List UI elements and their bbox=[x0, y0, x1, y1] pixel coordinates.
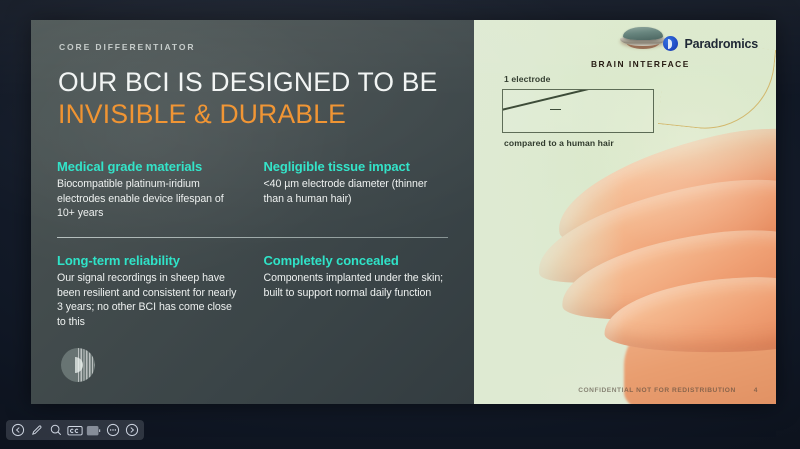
page-number: 4 bbox=[754, 387, 758, 394]
confidential-notice: CONFIDENTIAL NOT FOR REDISTRIBUTION bbox=[578, 387, 736, 394]
diagram-box bbox=[502, 89, 654, 133]
presentation-slide: CORE DIFFERENTIATOR OUR BCI IS DESIGNED … bbox=[31, 20, 776, 404]
headline-line-2: INVISIBLE & DURABLE bbox=[58, 98, 448, 130]
feature-item: Completely concealed Components implante… bbox=[264, 238, 449, 329]
brand-name: Paradromics bbox=[684, 37, 758, 51]
electrode-comparison-diagram: 1 electrode compared to a human hair bbox=[502, 74, 654, 148]
screen-photo: CORE DIFFERENTIATOR OUR BCI IS DESIGNED … bbox=[0, 0, 800, 449]
pen-tool-button[interactable] bbox=[29, 422, 45, 438]
diagram-caption-bottom: compared to a human hair bbox=[504, 138, 654, 148]
paradromics-circle-icon bbox=[663, 36, 678, 51]
captions-button[interactable] bbox=[67, 422, 83, 438]
electrode-line bbox=[550, 109, 561, 110]
feature-title: Completely concealed bbox=[264, 253, 445, 268]
feature-title: Long-term reliability bbox=[57, 253, 238, 268]
slide-eyebrow: CORE DIFFERENTIATOR bbox=[59, 42, 448, 52]
page-title: OUR BCI IS DESIGNED TO BE INVISIBLE & DU… bbox=[58, 66, 448, 130]
zoom-tool-button[interactable] bbox=[48, 422, 64, 438]
feature-body: Our signal recordings in sheep have been… bbox=[57, 271, 238, 329]
feature-title: Medical grade materials bbox=[57, 159, 238, 174]
diagram-caption-top: 1 electrode bbox=[504, 74, 654, 84]
presentation-toolbar[interactable] bbox=[6, 420, 144, 440]
feature-item: Medical grade materials Biocompatible pl… bbox=[57, 159, 242, 221]
feature-grid: Medical grade materials Biocompatible pl… bbox=[57, 159, 448, 329]
device-label: BRAIN INTERFACE bbox=[591, 59, 690, 69]
feature-title: Negligible tissue impact bbox=[264, 159, 445, 174]
slide-right-panel: BRAIN INTERFACE Paradromics 1 electrode … bbox=[474, 20, 776, 404]
present-button[interactable] bbox=[86, 422, 102, 438]
feature-item: Long-term reliability Our signal recordi… bbox=[57, 238, 242, 329]
slide-footer: CONFIDENTIAL NOT FOR REDISTRIBUTION 4 bbox=[578, 387, 758, 394]
feature-body: Biocompatible platinum-iridium electrode… bbox=[57, 177, 238, 221]
headline-line-1: OUR BCI IS DESIGNED TO BE bbox=[58, 66, 448, 98]
human-hair-line bbox=[502, 89, 654, 112]
paradromics-watermark-icon bbox=[61, 348, 95, 382]
feature-body: <40 µm electrode diameter (thinner than … bbox=[264, 177, 445, 206]
slide-left-panel: CORE DIFFERENTIATOR OUR BCI IS DESIGNED … bbox=[31, 20, 474, 404]
brain-implant-device-icon bbox=[620, 27, 666, 49]
next-slide-button[interactable] bbox=[124, 422, 140, 438]
more-options-button[interactable] bbox=[105, 422, 121, 438]
previous-slide-button[interactable] bbox=[10, 422, 26, 438]
feature-body: Components implanted under the skin; bui… bbox=[264, 271, 445, 300]
feature-item: Negligible tissue impact <40 µm electrod… bbox=[264, 159, 449, 221]
brand-logo: Paradromics bbox=[663, 36, 758, 51]
